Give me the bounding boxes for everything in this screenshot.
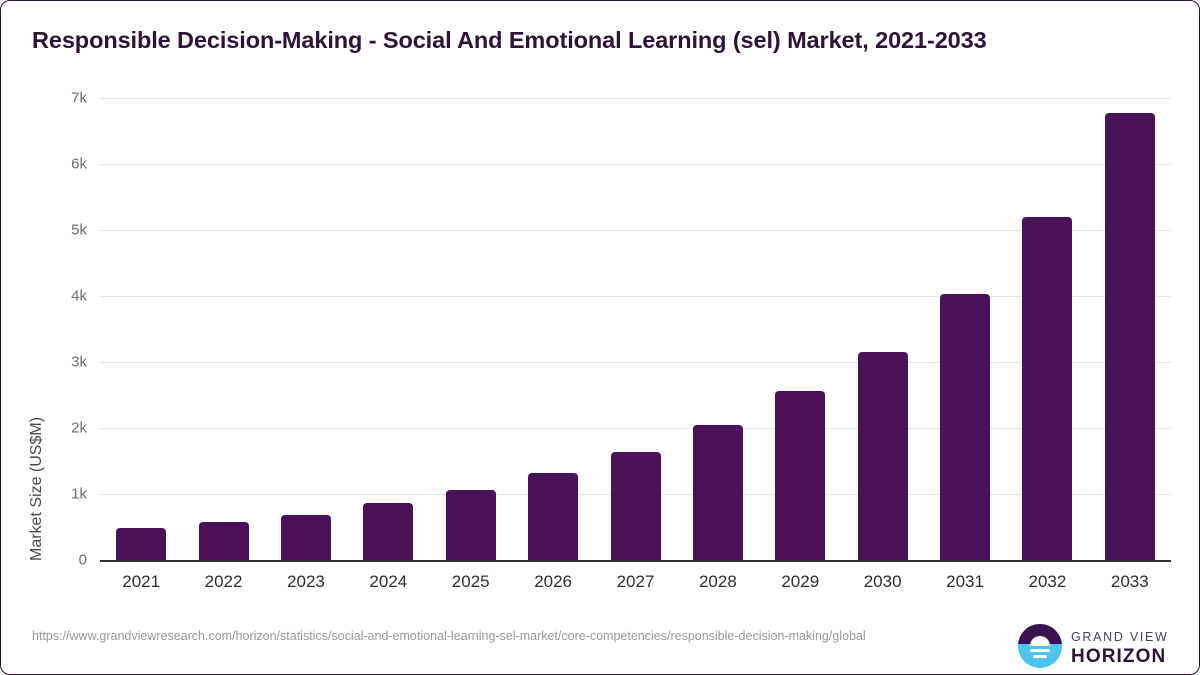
y-axis-tick-label: 6k [71, 156, 87, 173]
gridline [100, 164, 1171, 165]
y-axis-label-wrapper: Market Size (US$M) [31, 561, 55, 562]
x-axis-tick-label: 2021 [101, 572, 181, 592]
y-axis-label: Market Size (US$M) [28, 81, 52, 561]
gridline [100, 230, 1171, 231]
chart-page: Responsible Decision-Making - Social And… [0, 0, 1200, 675]
x-axis-tick-label: 2024 [348, 572, 428, 592]
x-axis-tick-label: 2027 [596, 572, 676, 592]
logo-text-horizon: HORIZON [1071, 646, 1166, 668]
bar[interactable] [446, 490, 496, 560]
x-axis-tick-label: 2028 [678, 572, 758, 592]
y-axis-tick-label: 1k [71, 486, 87, 503]
bar[interactable] [363, 503, 413, 560]
bar[interactable] [281, 515, 331, 560]
logo-mark-icon [1018, 624, 1062, 668]
y-axis-tick-label: 7k [71, 90, 87, 107]
gridline [100, 98, 1171, 99]
gridline [100, 362, 1171, 363]
logo-text-grand-view: GRAND VIEW [1071, 630, 1169, 644]
x-axis-tick-label: 2029 [760, 572, 840, 592]
x-axis-tick-label: 2030 [843, 572, 923, 592]
bar[interactable] [199, 522, 249, 560]
x-axis-tick-label: 2032 [1007, 572, 1087, 592]
logo-line-lower [1033, 655, 1047, 658]
y-axis-tick-label: 3k [71, 354, 87, 371]
y-axis-tick-label: 4k [71, 288, 87, 305]
plot-area [100, 91, 1171, 560]
bar[interactable] [1105, 113, 1155, 560]
x-axis-tick-label: 2031 [925, 572, 1005, 592]
y-axis-tick-label: 2k [71, 420, 87, 437]
grand-view-horizon-logo[interactable]: GRAND VIEW HORIZON [1018, 622, 1186, 670]
bar[interactable] [116, 528, 166, 560]
y-axis-tick-label: 0 [79, 552, 87, 569]
x-axis-tick-label: 2022 [184, 572, 264, 592]
gridline [100, 428, 1171, 429]
x-axis-line [100, 560, 1171, 562]
logo-line-upper [1030, 649, 1050, 652]
bar[interactable] [1022, 217, 1072, 560]
bar[interactable] [775, 391, 825, 560]
x-axis-tick-label: 2023 [266, 572, 346, 592]
bar[interactable] [611, 452, 661, 560]
bar[interactable] [940, 294, 990, 560]
bar[interactable] [528, 473, 578, 560]
x-axis-tick-label: 2033 [1090, 572, 1170, 592]
bar[interactable] [858, 352, 908, 560]
x-axis-tick-label: 2026 [513, 572, 593, 592]
source-url[interactable]: https://www.grandviewresearch.com/horizo… [32, 628, 937, 644]
x-axis-tick-label: 2025 [431, 572, 511, 592]
y-axis-tick-label: 5k [71, 222, 87, 239]
bar[interactable] [693, 425, 743, 560]
page-title: Responsible Decision-Making - Social And… [32, 27, 987, 54]
gridline [100, 296, 1171, 297]
